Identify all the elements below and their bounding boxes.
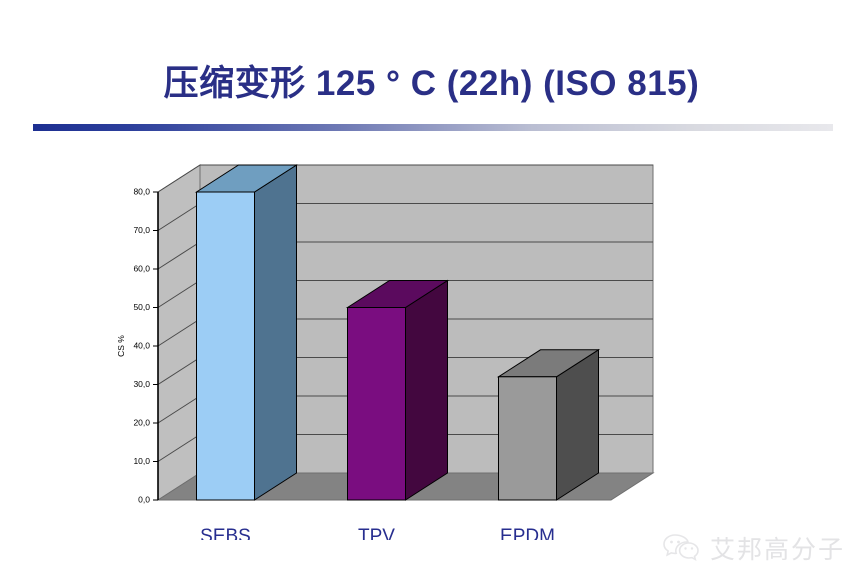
bar-side-face [255,165,297,500]
y-tick-label: 70,0 [133,225,150,235]
y-tick-label: 60,0 [133,263,150,273]
category-label-sebs[interactable]: SEBS [200,526,251,540]
y-tick-label: 50,0 [133,302,150,312]
title-container: 压缩变形 125 ° C (22h) (ISO 815) [0,52,863,114]
category-label-epdm[interactable]: EPDM [500,526,555,540]
bar-front-face [499,377,557,500]
bar-front-face [348,308,406,501]
bar-group-sebs [197,165,297,500]
category-label-tpv[interactable]: TPV [358,526,395,540]
y-tick-label: 30,0 [133,379,150,389]
compression-set-chart: 0,010,020,030,040,050,060,070,080,0CS %S… [0,140,863,540]
y-tick-label: 20,0 [133,417,150,427]
y-tick-label: 10,0 [133,456,150,466]
y-tick-label: 0,0 [138,494,150,504]
y-tick-label: 40,0 [133,340,150,350]
slide: 压缩变形 125 ° C (22h) (ISO 815) 0,010,020,0… [0,0,863,582]
title-divider [33,124,833,131]
y-tick-label: 80,0 [133,186,150,196]
page-title: 压缩变形 125 ° C (22h) (ISO 815) [164,66,700,101]
chart-svg: 0,010,020,030,040,050,060,070,080,0CS %S… [0,140,863,540]
bar-group-epdm [499,350,599,500]
wechat-icon [661,531,701,568]
bar-group-tpv [348,281,448,501]
bar-front-face [197,192,255,500]
watermark: 艾邦高分子 [661,531,845,568]
watermark-text: 艾邦高分子 [710,537,845,562]
y-axis-title: CS % [116,335,126,357]
bar-side-face [406,281,448,501]
